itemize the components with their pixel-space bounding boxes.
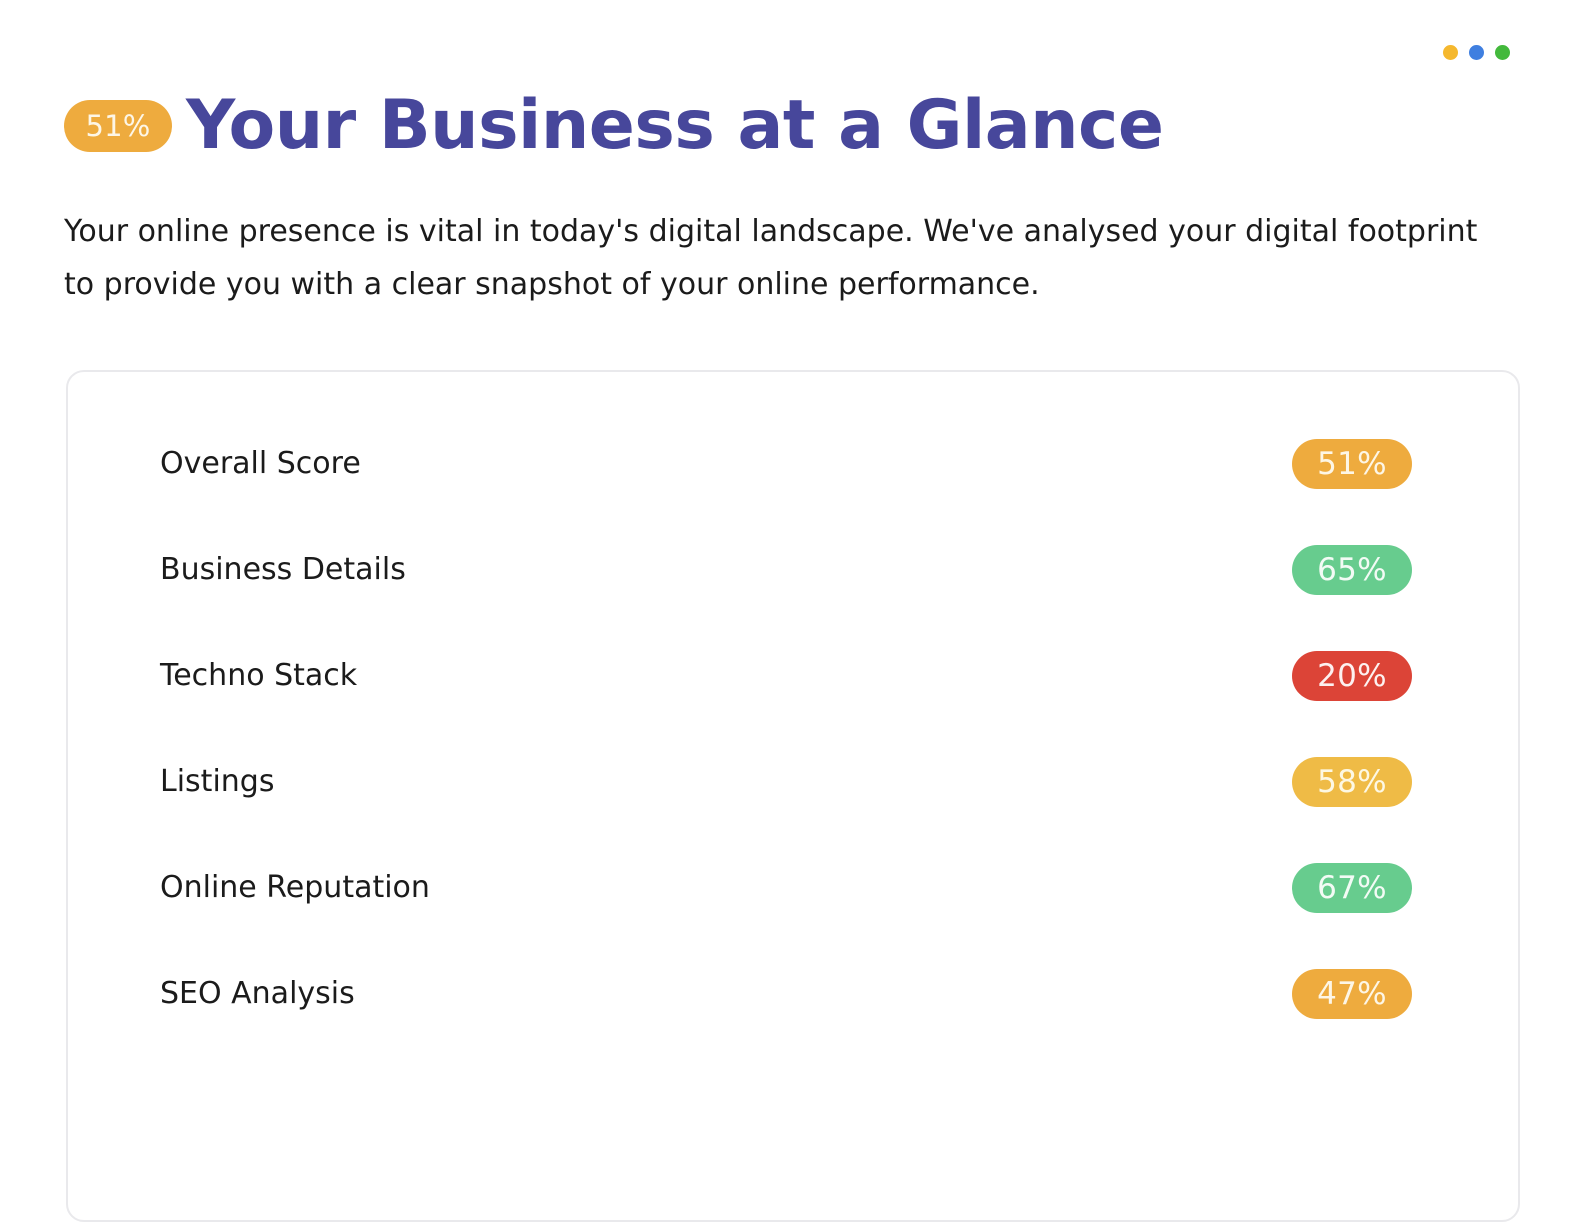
list-item[interactable]: Online Reputation 67% (160, 835, 1412, 941)
score-row-label: SEO Analysis (160, 979, 355, 1009)
status-badge: 67% (1292, 863, 1412, 913)
window-controls (1443, 45, 1510, 60)
page-header: 51% Your Business at a Glance (64, 92, 1163, 160)
score-list: Overall Score 51% Business Details 65% T… (160, 411, 1412, 1047)
score-row-label: Online Reputation (160, 873, 430, 903)
score-row-label: Overall Score (160, 449, 361, 479)
list-item[interactable]: SEO Analysis 47% (160, 941, 1412, 1047)
intro-paragraph: Your online presence is vital in today's… (64, 205, 1494, 311)
yellow-dot[interactable] (1443, 45, 1458, 60)
status-badge: 20% (1292, 651, 1412, 701)
score-row-label: Techno Stack (160, 661, 357, 691)
page-title: Your Business at a Glance (186, 92, 1163, 160)
score-row-label: Business Details (160, 555, 406, 585)
blue-dot[interactable] (1469, 45, 1484, 60)
status-badge: 47% (1292, 969, 1412, 1019)
list-item[interactable]: Business Details 65% (160, 517, 1412, 623)
overall-score-badge: 51% (64, 100, 172, 152)
score-summary-card: Overall Score 51% Business Details 65% T… (66, 370, 1520, 1222)
status-badge: 58% (1292, 757, 1412, 807)
status-badge: 51% (1292, 439, 1412, 489)
list-item[interactable]: Overall Score 51% (160, 411, 1412, 517)
page-root: 51% Your Business at a Glance Your onlin… (0, 0, 1581, 1228)
status-badge: 65% (1292, 545, 1412, 595)
list-item[interactable]: Techno Stack 20% (160, 623, 1412, 729)
list-item[interactable]: Listings 58% (160, 729, 1412, 835)
score-row-label: Listings (160, 767, 274, 797)
green-dot[interactable] (1495, 45, 1510, 60)
